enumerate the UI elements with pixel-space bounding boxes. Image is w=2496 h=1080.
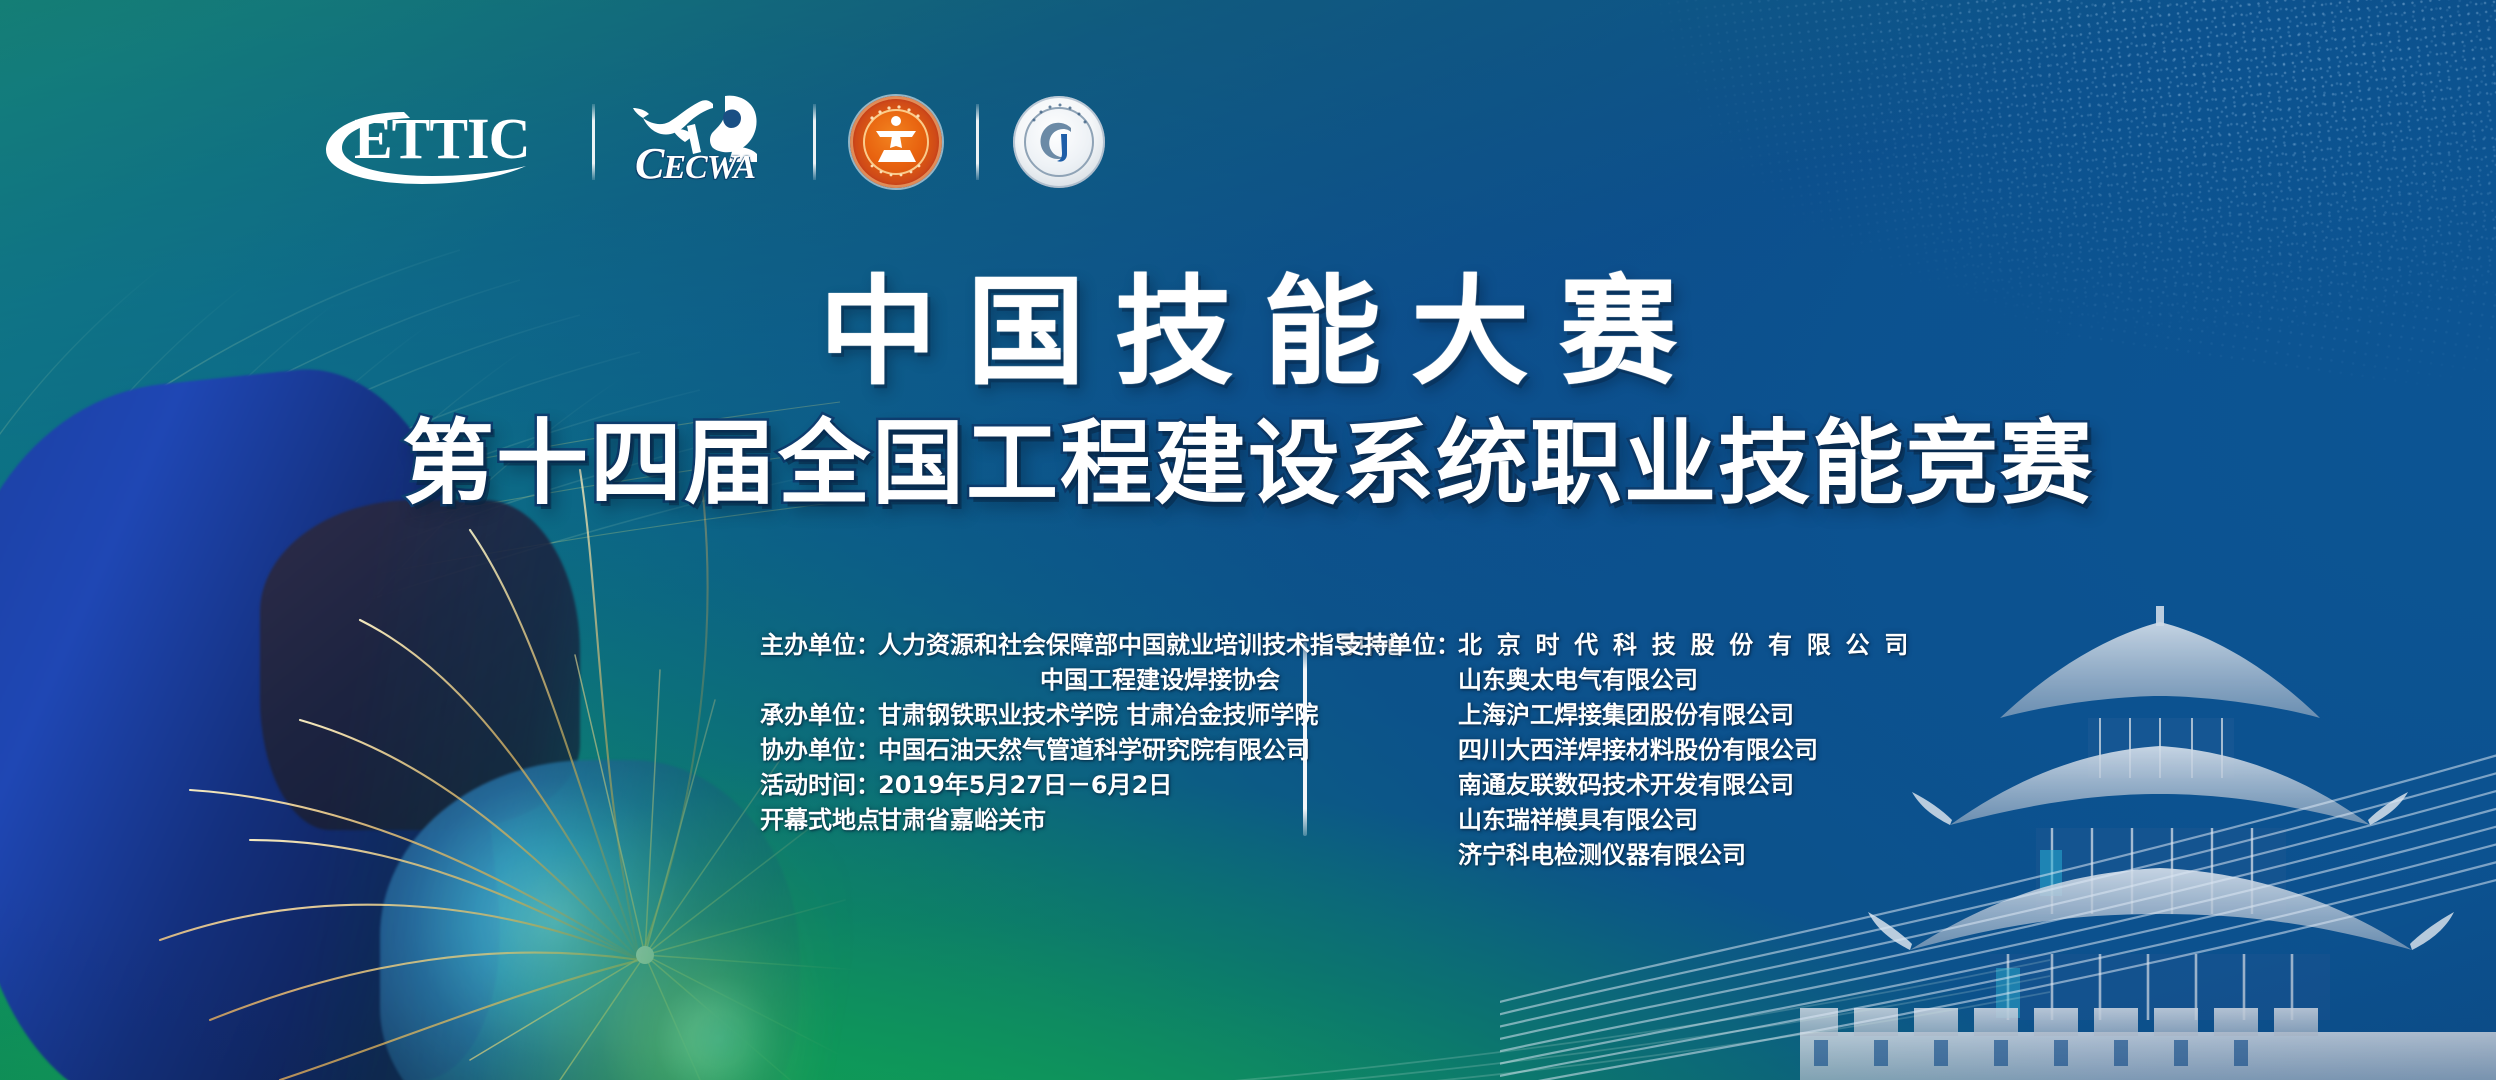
sponsor-logo-row: ETTIC CE xyxy=(318,86,1105,198)
info-value: 中国石油天然气管道科学研究院有限公司 xyxy=(878,733,1310,768)
info-line: 支持单位： 南通友联数码技术开发有限公司 xyxy=(1340,768,1980,803)
info-value: 山东瑞祥模具有限公司 xyxy=(1458,803,1698,838)
cecwa-initial: C xyxy=(635,139,663,188)
info-line: 中国工程建设焊接协会 xyxy=(760,663,1280,698)
cecwa-logo: CECWA xyxy=(629,90,779,194)
emblem-silver-g-monogram-icon xyxy=(1031,114,1087,170)
info-line: 支持单位： 上海沪工焊接集团股份有限公司 xyxy=(1340,698,1980,733)
gansu-metallurgy-technician-college-emblem xyxy=(1013,96,1105,188)
info-value: 南通友联数码技术开发有限公司 xyxy=(1458,768,1794,803)
info-value: 北 京 时 代 科 技 股 份 有 限 公 司 xyxy=(1458,628,1912,663)
info-label: 开幕式地点： xyxy=(760,803,878,838)
event-info-panel: 主办单位： 人力资源和社会保障部中国就业培训技术指导中心 中国工程建设焊接协会 … xyxy=(760,628,2000,888)
info-value: 2019年5月27日－6月2日 xyxy=(878,768,1172,803)
info-line: 主办单位： 人力资源和社会保障部中国就业培训技术指导中心 xyxy=(760,628,1280,663)
page-subtitle: 第十四届全国工程建设系统职业技能竞赛 xyxy=(402,412,2094,515)
page-subtitle-wrap: 第十四届全国工程建设系统职业技能竞赛 xyxy=(0,412,2496,515)
cecwa-wordmark: CECWA xyxy=(635,142,755,186)
event-banner: ETTIC CE xyxy=(0,0,2496,1080)
info-line: 协办单位： 中国石油天然气管道科学研究院有限公司 xyxy=(760,733,1280,768)
info-value: 甘肃省嘉峪关市 xyxy=(878,803,1046,838)
cettic-logo: ETTIC xyxy=(318,94,558,190)
info-line: 支持单位： 山东奥太电气有限公司 xyxy=(1340,663,1980,698)
gansu-steel-college-emblem xyxy=(850,96,942,188)
info-line: 支持单位： 四川大西洋焊接材料股份有限公司 xyxy=(1340,733,1980,768)
logo-divider-2 xyxy=(813,104,816,180)
info-label: 支持单位： xyxy=(1340,628,1458,663)
info-line: 活动时间： 2019年5月27日－6月2日 xyxy=(760,768,1280,803)
logo-divider-1 xyxy=(592,104,595,180)
page-title: 中国技能大赛 xyxy=(0,236,2496,407)
info-value: 中国工程建设焊接协会 xyxy=(1040,663,1280,698)
info-value: 甘肃钢铁职业技术学院 甘肃冶金技师学院 xyxy=(878,698,1318,733)
info-line: 支持单位： 山东瑞祥模具有限公司 xyxy=(1340,803,1980,838)
info-value: 四川大西洋焊接材料股份有限公司 xyxy=(1458,733,1818,768)
cettic-wordmark: ETTIC xyxy=(354,110,530,168)
supporter-info-column: 支持单位： 北 京 时 代 科 技 股 份 有 限 公 司 支持单位： 山东奥太… xyxy=(1340,628,1980,873)
info-value: 山东奥太电气有限公司 xyxy=(1458,663,1698,698)
cecwa-rest: ECWA xyxy=(663,149,755,186)
info-value: 济宁科电检测仪器有限公司 xyxy=(1458,838,1746,873)
info-label: 承办单位： xyxy=(760,698,878,733)
emblem-red-figure-icon xyxy=(866,112,926,172)
column-divider xyxy=(1303,642,1307,836)
info-value: 人力资源和社会保障部中国就业培训技术指导中心 xyxy=(878,628,1406,663)
info-label: 主办单位： xyxy=(760,628,878,663)
organizer-info-column: 主办单位： 人力资源和社会保障部中国就业培训技术指导中心 中国工程建设焊接协会 … xyxy=(760,628,1280,838)
logo-divider-3 xyxy=(976,104,979,180)
info-label: 活动时间： xyxy=(760,768,878,803)
info-line: 支持单位： 北 京 时 代 科 技 股 份 有 限 公 司 xyxy=(1340,628,1980,663)
info-label: 协办单位： xyxy=(760,733,878,768)
info-line: 支持单位： 济宁科电检测仪器有限公司 xyxy=(1340,838,1980,873)
info-line: 开幕式地点： 甘肃省嘉峪关市 xyxy=(760,803,1280,838)
info-value: 上海沪工焊接集团股份有限公司 xyxy=(1458,698,1794,733)
info-line: 承办单位： 甘肃钢铁职业技术学院 甘肃冶金技师学院 xyxy=(760,698,1280,733)
